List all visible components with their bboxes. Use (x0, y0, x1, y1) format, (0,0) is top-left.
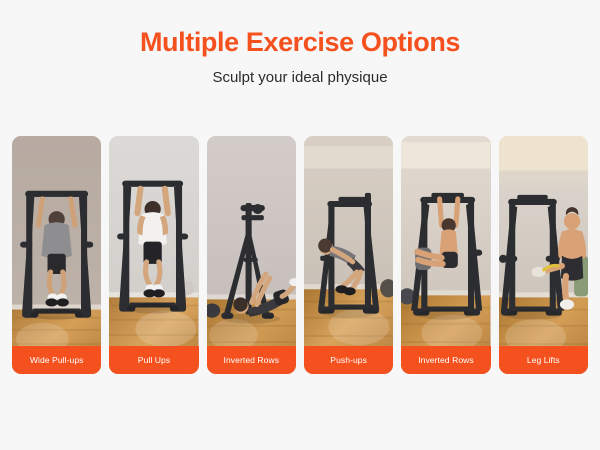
exercise-card-label: Wide Pull-ups (12, 346, 101, 374)
page-title: Multiple Exercise Options (0, 28, 600, 58)
exercise-card[interactable]: Wide Pull-ups (12, 136, 101, 374)
exercise-card-label: Inverted Rows (401, 346, 490, 374)
exercise-card-label: Pull Ups (109, 346, 198, 374)
exercise-photo-inverted-rows-2 (401, 136, 490, 374)
exercise-options-page: Multiple Exercise Options Sculpt your id… (0, 0, 600, 450)
exercise-card[interactable]: Push-ups (304, 136, 393, 374)
exercise-card-list: Wide Pull-ups (12, 136, 588, 374)
exercise-card[interactable]: Inverted Rows (401, 136, 490, 374)
exercise-card-label: Push-ups (304, 346, 393, 374)
exercise-card-label: Leg Lifts (499, 346, 588, 374)
exercise-photo-inverted-rows (207, 136, 296, 374)
exercise-photo-leg-lifts (499, 136, 588, 374)
exercise-photo-pushups (304, 136, 393, 374)
exercise-card[interactable]: Inverted Rows (207, 136, 296, 374)
exercise-photo-wide-pullups (12, 136, 101, 374)
page-subtitle: Sculpt your ideal physique (0, 69, 600, 87)
exercise-photo-pullups (109, 136, 198, 374)
page-header: Multiple Exercise Options Sculpt your id… (0, 0, 600, 87)
exercise-card-label: Inverted Rows (207, 346, 296, 374)
exercise-card[interactable]: Pull Ups (109, 136, 198, 374)
exercise-card[interactable]: Leg Lifts (499, 136, 588, 374)
